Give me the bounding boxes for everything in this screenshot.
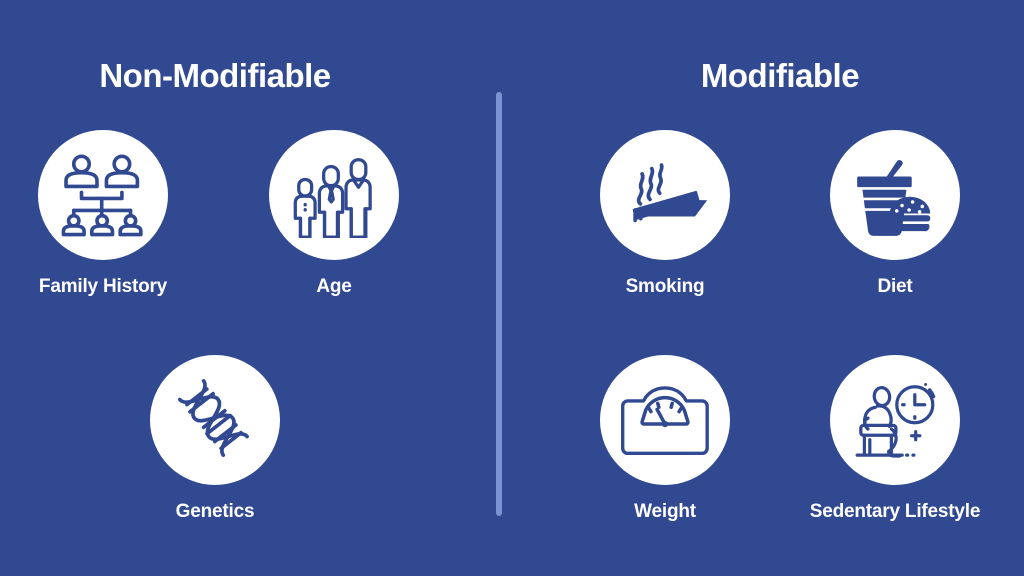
person-sitting-chair-clock-icon [850,375,940,465]
badge-age [269,130,399,260]
item-age: Age [234,130,434,298]
badge-diet [830,130,960,260]
family-tree-icon [60,152,146,238]
item-label-diet: Diet [795,276,995,298]
badge-sedentary [830,355,960,485]
item-weight: Weight [565,355,765,523]
column-heading-non-modifiable: Non-Modifiable [0,57,430,95]
item-genetics: Genetics [115,355,315,523]
soda-cup-burger-icon [851,151,939,239]
item-diet: Diet [795,130,995,298]
item-smoking: Smoking [565,130,765,298]
three-people-ages-icon [291,152,377,238]
cigarette-smoke-icon [621,151,709,239]
item-label-genetics: Genetics [115,501,315,523]
bathroom-scale-icon [621,376,709,464]
column-heading-modifiable: Modifiable [565,57,995,95]
column-divider [496,92,502,516]
badge-family-history [38,130,168,260]
item-label-family-history: Family History [3,276,203,298]
item-sedentary: Sedentary Lifestyle [795,355,995,523]
dna-helix-icon [173,378,257,462]
badge-genetics [150,355,280,485]
badge-weight [600,355,730,485]
item-label-weight: Weight [565,501,765,523]
item-label-sedentary: Sedentary Lifestyle [795,501,995,523]
item-label-age: Age [234,276,434,298]
item-label-smoking: Smoking [565,276,765,298]
item-family-history: Family History [3,130,203,298]
risk-factors-infographic: Non-Modifiable Modifiable [0,0,1024,576]
badge-smoking [600,130,730,260]
